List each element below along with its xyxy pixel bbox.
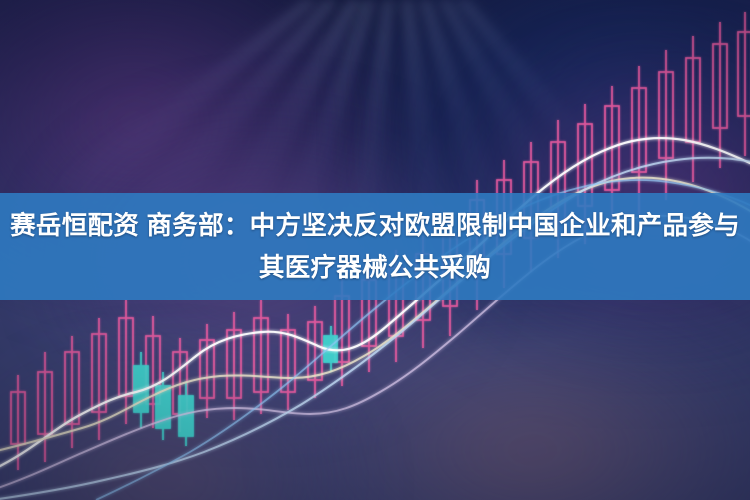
thumbnail-canvas: 赛岳恒配资 商务部：中方坚决反对欧盟限制中国企业和产品参与其医疗器械公共采购 — [0, 0, 750, 500]
headline-text: 赛岳恒配资 商务部：中方坚决反对欧盟限制中国企业和产品参与其医疗器械公共采购 — [6, 205, 744, 289]
headline-banner: 赛岳恒配资 商务部：中方坚决反对欧盟限制中国企业和产品参与其医疗器械公共采购 — [0, 193, 750, 300]
